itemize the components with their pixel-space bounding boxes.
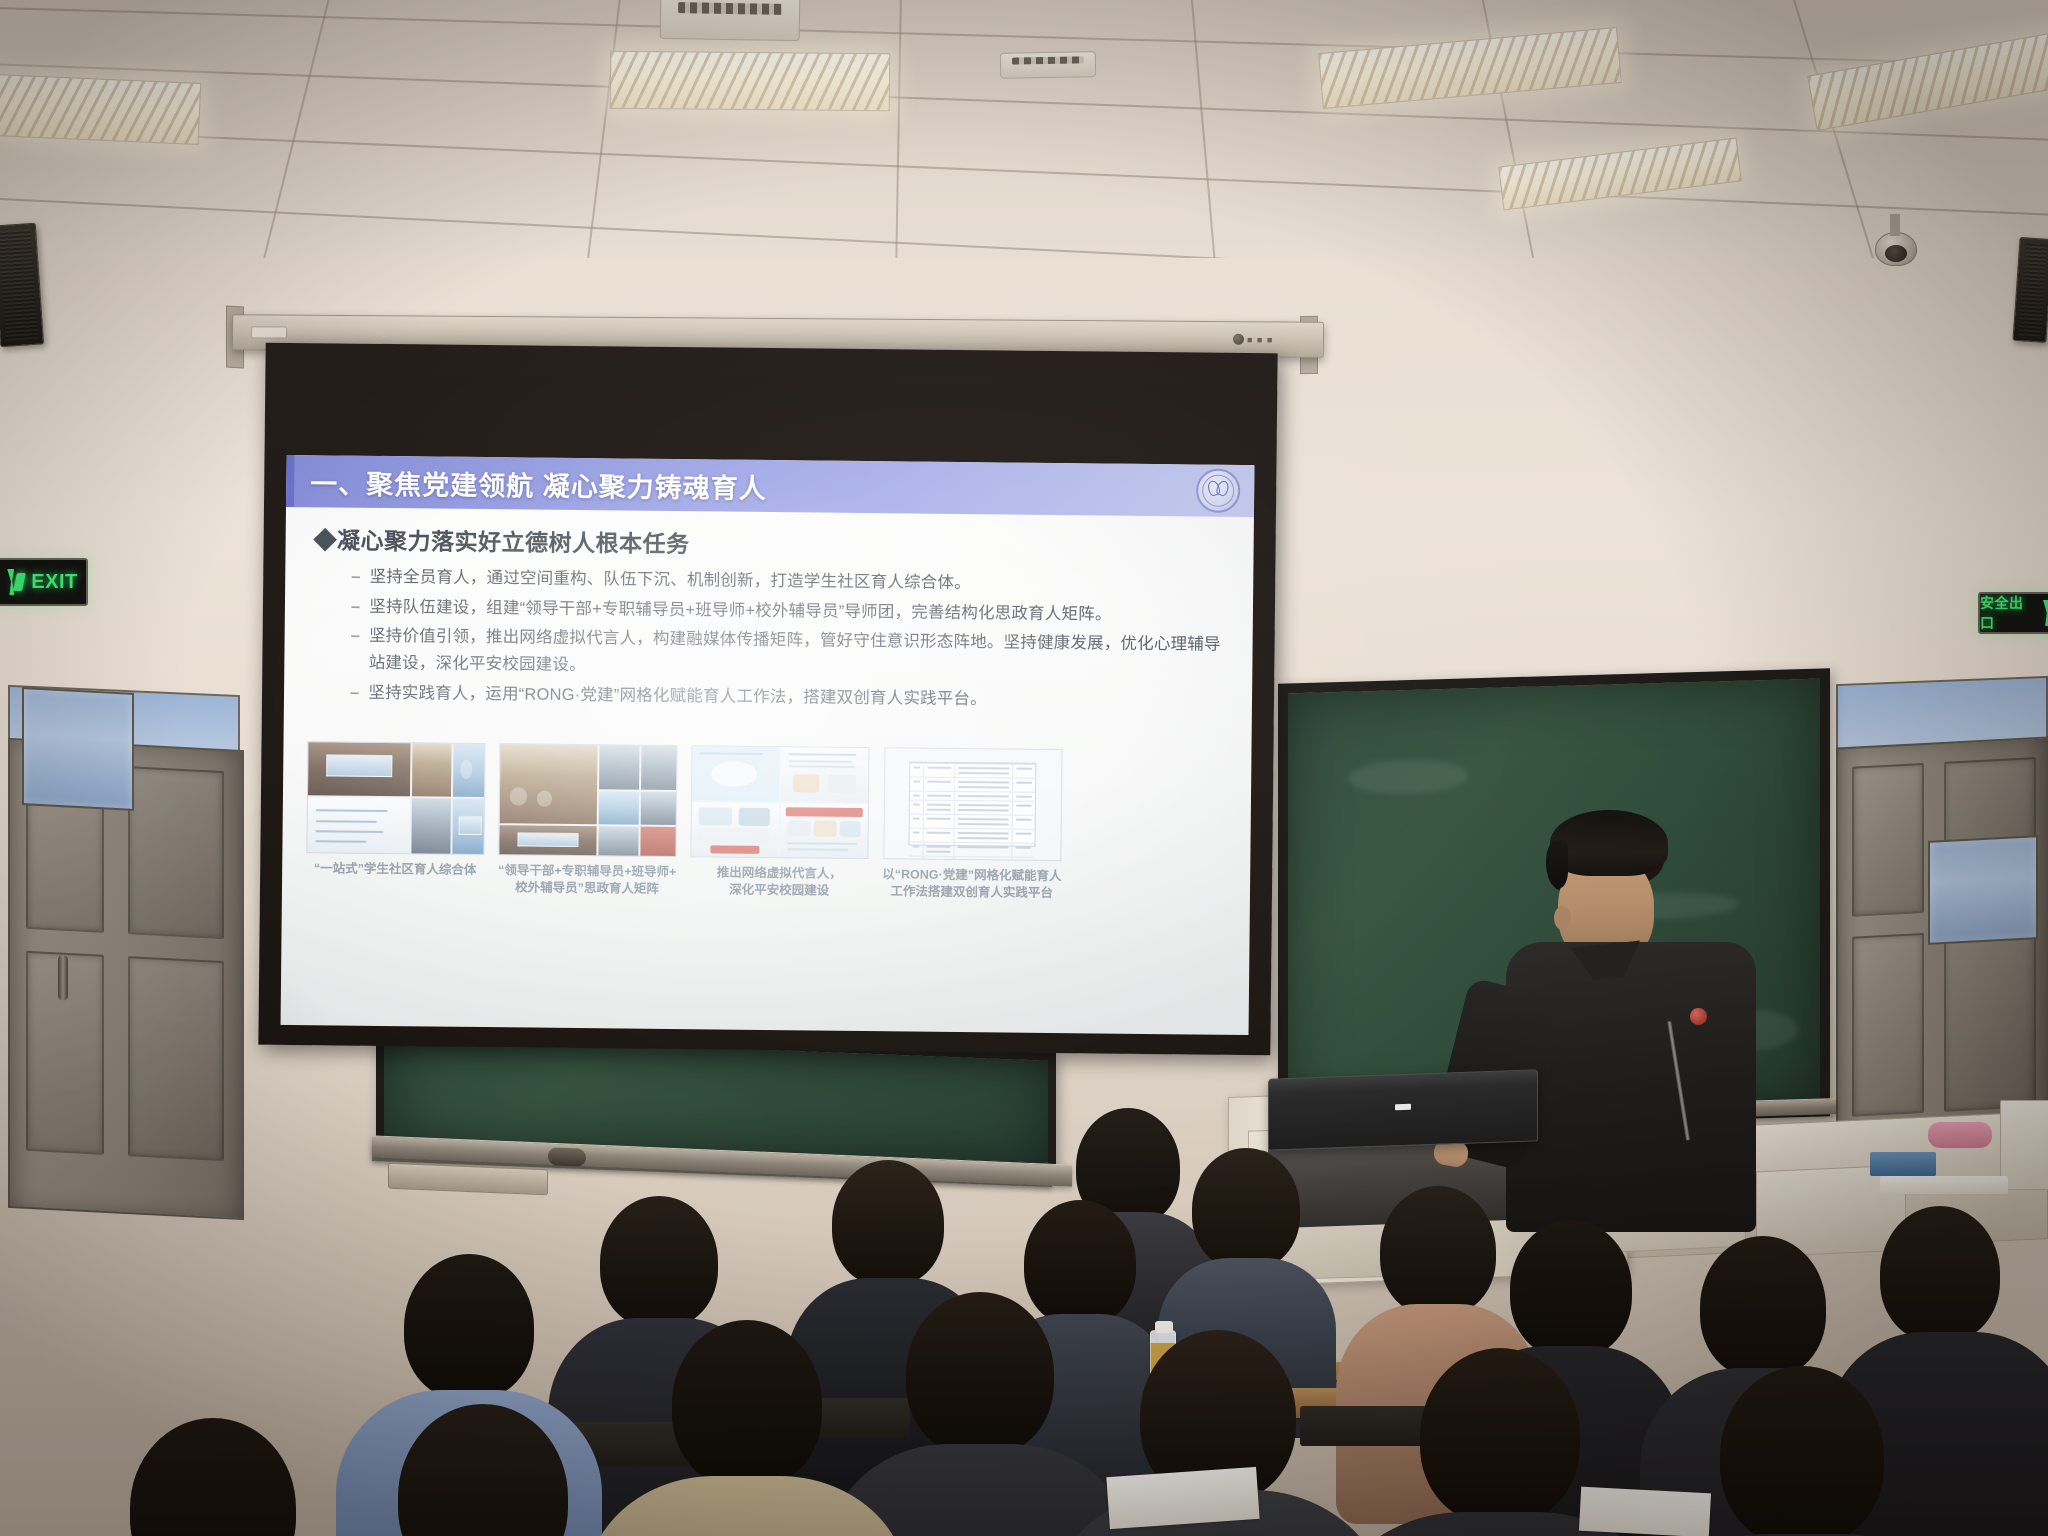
slide-image-strip: “一站式”学生社区育人综合体 — [306, 741, 1228, 903]
door-handle[interactable] — [58, 954, 68, 1001]
ceiling-light-fixture — [1318, 27, 1622, 109]
podium-monitor[interactable] — [1268, 1069, 1538, 1150]
wall-speaker — [2012, 237, 2048, 343]
collage-block: 以“RONG·党建”网格化赋能育人 工作法搭建双创育人实践平台 — [882, 747, 1063, 902]
counter-box-pink — [1928, 1122, 1992, 1148]
bullet-marker: – — [351, 564, 361, 591]
collage-student-community — [306, 741, 485, 855]
left-door-window — [22, 687, 134, 811]
ceiling-vent — [1000, 51, 1096, 79]
microphone-head — [1690, 1008, 1707, 1025]
ceiling-dome-camera — [1875, 232, 1917, 266]
rail-small-device — [548, 1147, 586, 1167]
exit-sign-left: EXIT — [0, 558, 88, 606]
exit-sign-label: 安全出口 — [1980, 593, 2035, 633]
collage-mentor-matrix — [498, 743, 677, 857]
counter-box-blue — [1870, 1152, 1936, 1176]
ceiling-light-fixture — [610, 51, 890, 111]
ceiling-light-fixture — [0, 73, 201, 145]
collage-rong-party-building — [883, 747, 1062, 861]
collage-virtual-spokesperson — [690, 745, 869, 859]
collage-caption: “一站式”学生社区育人综合体 — [314, 860, 477, 879]
ceiling-grid — [0, 0, 2048, 258]
collage-block: “领导干部+专职辅导员+班导师+ 校外辅导员”思政育人矩阵 — [498, 743, 678, 898]
slide-title: 一、聚焦党建领航 凝心聚力铸魂育人 — [310, 462, 767, 506]
bullet-marker: – — [351, 593, 361, 620]
right-door-window — [1928, 835, 2038, 945]
slide-title-bar: 一、聚焦党建领航 凝心聚力铸魂育人 — [286, 455, 1254, 517]
bullet-text: 坚持全员育人，通过空间重构、队伍下沉、机制创新，打造学生社区育人综合体。 — [370, 564, 971, 597]
collage-block: “一站式”学生社区育人综合体 — [306, 741, 485, 879]
notebook-paper — [1579, 1487, 1711, 1536]
projection-screen: 一、聚焦党建领航 凝心聚力铸魂育人 ◆凝心聚力落实好立德树人根本任务 – 坚持全… — [258, 343, 1277, 1056]
bullet-text: 坚持实践育人，运用“RONG·党建”网格化赋能育人工作法，搭建双创育人实践平台。 — [368, 680, 987, 713]
collage-caption: 推出网络虚拟代言人， 深化平安校园建设 — [717, 864, 842, 899]
exit-sign-right: 安全出口 — [1978, 592, 2048, 634]
bullet-item: – 坚持价值引领，推出网络虚拟代言人，构建融媒体传播矩阵，管好守住意识形态阵地。… — [350, 623, 1231, 686]
collage-caption: “领导干部+专职辅导员+班导师+ 校外辅导员”思政育人矩阵 — [498, 862, 676, 898]
university-seal-logo — [1196, 468, 1240, 512]
presenter-torso — [1506, 942, 1756, 1232]
collage-caption: 以“RONG·党建”网格化赋能育人 工作法搭建双创育人实践平台 — [882, 866, 1062, 902]
title-accent-bar — [286, 455, 295, 507]
notebook-paper — [1106, 1467, 1259, 1529]
lecture-hall-photo: EXIT 安全出口 ■ ■ ■ — [0, 0, 2048, 1536]
running-man-icon — [2040, 598, 2048, 628]
camera-mount — [1890, 214, 1900, 236]
presenter-ear — [1554, 906, 1571, 930]
slide-subtitle: ◆凝心聚力落实好立德树人根本任务 — [313, 521, 689, 559]
counter-paper-stack — [1880, 1176, 2008, 1194]
presentation-slide: 一、聚焦党建领航 凝心聚力铸魂育人 ◆凝心聚力落实好立德树人根本任务 – 坚持全… — [281, 455, 1255, 1035]
housing-brand-logo: ■ ■ ■ — [1233, 334, 1273, 345]
ceiling-light-fixture — [1807, 29, 2048, 131]
document-table — [909, 762, 1037, 847]
slide-bullet-list: – 坚持全员育人，通过空间重构、队伍下沉、机制创新，打造学生社区育人综合体。 –… — [350, 564, 1231, 719]
collage-block: 推出网络虚拟代言人， 深化平安校园建设 — [690, 745, 870, 900]
exit-sign-label: EXIT — [31, 571, 77, 594]
bullet-text: 坚持价值引领，推出网络虚拟代言人，构建融媒体传播矩阵，管好守住意识形态阵地。坚持… — [369, 623, 1231, 685]
housing-label — [251, 326, 287, 338]
presenter-hair-top — [1550, 810, 1668, 876]
bullet-text: 坚持队伍建设，组建“领导干部+专职辅导员+班导师+校外辅导员”导师团，完善结构化… — [369, 594, 1112, 628]
ceiling-smoke-detector — [660, 0, 801, 41]
running-man-icon — [4, 567, 26, 597]
bullet-marker: – — [350, 679, 360, 706]
bullet-item: – 坚持实践育人，运用“RONG·党建”网格化赋能育人工作法，搭建双创育人实践平… — [350, 679, 1230, 715]
bullet-marker: – — [350, 623, 360, 650]
speaker-at-podium — [1500, 810, 1830, 1230]
